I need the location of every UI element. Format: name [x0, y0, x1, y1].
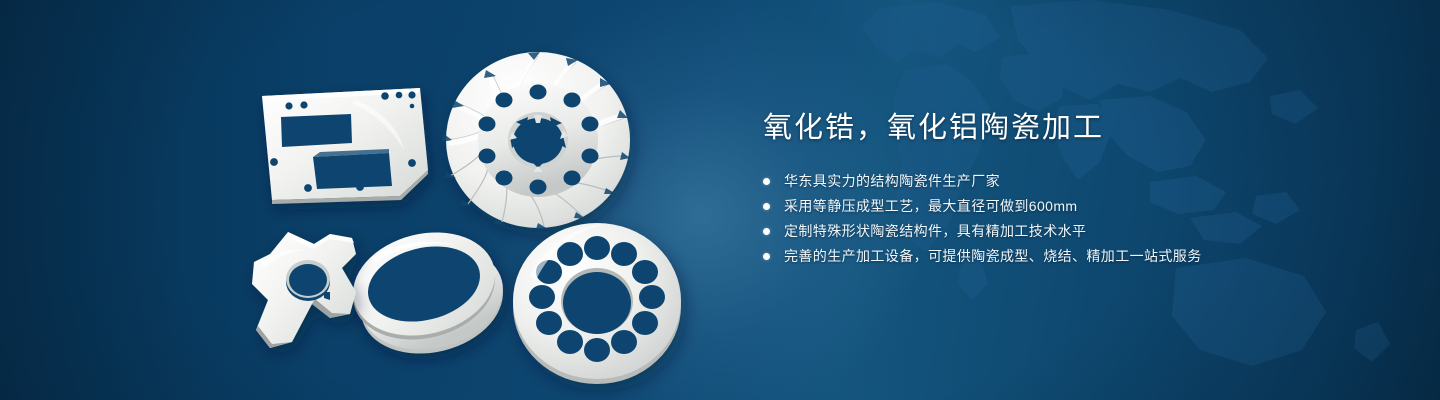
- feature-text: 定制特殊形状陶瓷结构件，具有精加工技术水平: [784, 220, 1086, 242]
- ceramic-impeller-part: [442, 52, 630, 229]
- bullet-dot-icon: [763, 228, 770, 235]
- list-item: 完善的生产加工设备，可提供陶瓷成型、烧结、精加工一站式服务: [763, 245, 1383, 267]
- ceramic-ring-part: [342, 218, 514, 368]
- feature-text: 完善的生产加工设备，可提供陶瓷成型、烧结、精加工一站式服务: [784, 245, 1202, 267]
- hero-banner: 氧化锆，氧化铝陶瓷加工 华东具实力的结构陶瓷件生产厂家 采用等静压成型工艺，最大…: [0, 0, 1440, 400]
- bullet-dot-icon: [763, 253, 770, 260]
- list-item: 采用等静压成型工艺，最大直径可做到600mm: [763, 195, 1383, 217]
- ceramic-cross-part: [252, 232, 356, 348]
- banner-copy: 氧化锆，氧化铝陶瓷加工 华东具实力的结构陶瓷件生产厂家 采用等静压成型工艺，最大…: [763, 108, 1383, 270]
- feature-text: 采用等静压成型工艺，最大直径可做到600mm: [784, 195, 1077, 217]
- ceramic-perforated-disc-part: [513, 223, 681, 384]
- page-title: 氧化锆，氧化铝陶瓷加工: [763, 108, 1383, 148]
- bullet-dot-icon: [763, 203, 770, 210]
- list-item: 华东具实力的结构陶瓷件生产厂家: [763, 170, 1383, 192]
- feature-text: 华东具实力的结构陶瓷件生产厂家: [784, 170, 1000, 192]
- bullet-dot-icon: [763, 178, 770, 185]
- ceramic-plate-part: [262, 88, 428, 204]
- list-item: 定制特殊形状陶瓷结构件，具有精加工技术水平: [763, 220, 1383, 242]
- ceramic-parts-illustration: [0, 0, 720, 400]
- feature-list: 华东具实力的结构陶瓷件生产厂家 采用等静压成型工艺，最大直径可做到600mm 定…: [763, 170, 1383, 267]
